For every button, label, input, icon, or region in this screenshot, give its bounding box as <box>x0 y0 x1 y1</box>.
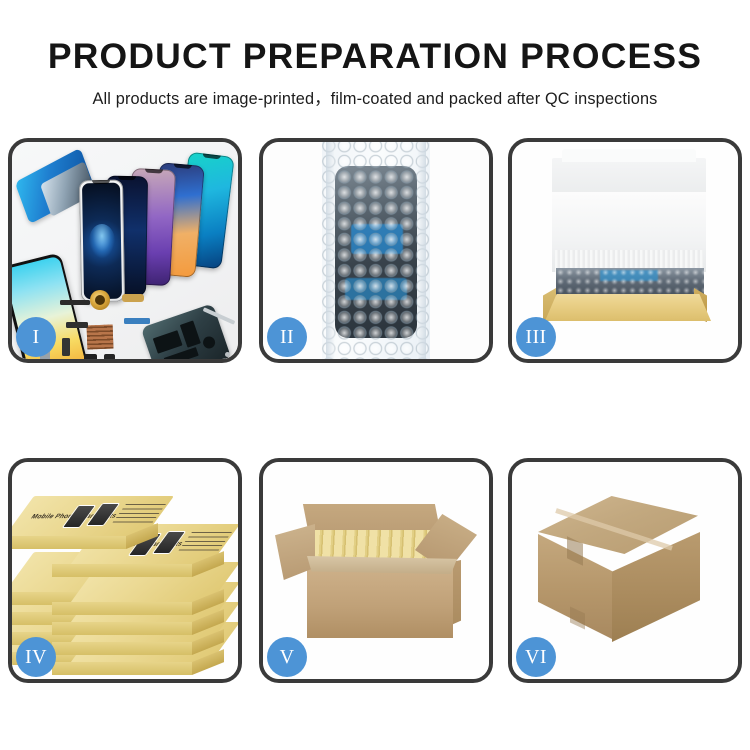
step-badge-1: I <box>16 317 56 357</box>
carton-flap-front-icon <box>307 556 457 574</box>
bag-edge-right-icon <box>417 142 426 359</box>
screw-icon <box>225 352 230 357</box>
step-badge-4: IV <box>16 637 56 677</box>
speaker-component-icon <box>90 290 110 310</box>
page-subtitle: All products are image-printed，film-coat… <box>0 85 750 109</box>
box-front-panel-icon <box>545 294 711 321</box>
step-badge-2: II <box>267 317 307 357</box>
step-badge-6: VI <box>516 637 556 677</box>
process-step-grid: I II <box>8 138 742 683</box>
header: PRODUCT PREPARATION PROCESS All products… <box>0 0 750 120</box>
step-panel-6: VI <box>508 458 742 683</box>
retail-box-printed-icon: Mobile Phone Spare Parts <box>18 496 158 560</box>
step-panel-5: V <box>259 458 493 683</box>
step-panel-2: II <box>259 138 493 363</box>
step-panel-1: I <box>8 138 242 363</box>
camera-part-icon <box>84 354 97 359</box>
step-panel-4: Mobile Phone Spare Parts Mobile Phone Sp… <box>8 458 242 683</box>
button-part-icon <box>66 322 88 328</box>
product-bubble-texture-icon <box>556 268 704 296</box>
camera-part-icon <box>104 354 115 359</box>
step-badge-5: V <box>267 637 307 677</box>
bag-edge-left-icon <box>326 142 335 359</box>
step-badge-3: III <box>516 317 556 357</box>
page-title: PRODUCT PREPARATION PROCESS <box>0 36 750 77</box>
flex-cable-icon <box>60 300 90 305</box>
carton-body-icon <box>307 568 453 638</box>
flex-cable-icon <box>124 318 150 324</box>
connector-grid-icon <box>87 325 114 350</box>
button-part-icon <box>62 338 70 356</box>
infographic-page: PRODUCT PREPARATION PROCESS All products… <box>0 0 750 750</box>
step-panel-3: III <box>508 138 742 363</box>
phone-screen-1-icon <box>79 180 125 303</box>
flex-cable-icon <box>122 294 144 302</box>
bubble-shading-icon <box>321 142 431 359</box>
